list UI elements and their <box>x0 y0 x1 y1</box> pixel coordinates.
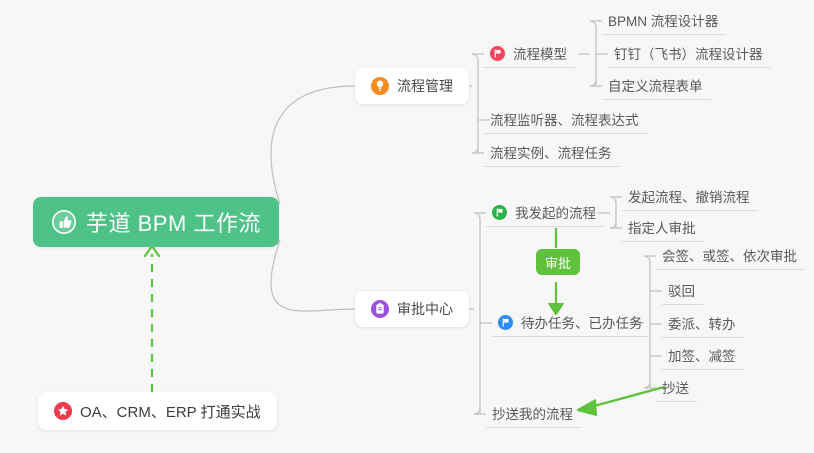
node-countersign[interactable]: 会签、或签、依次审批 <box>656 241 805 270</box>
link-pmodel-bottom-cap <box>590 80 596 86</box>
flag-green-icon <box>492 205 507 220</box>
note-node-label: OA、CRM、ERP 打通实战 <box>80 401 261 422</box>
link-ac-top-cap <box>474 213 480 219</box>
root-node[interactable]: 芋道 BPM 工作流 <box>33 197 279 247</box>
clipboard-icon <box>371 300 389 318</box>
node-countersign-label: 会签、或签、依次审批 <box>662 245 797 265</box>
link-mi-top-cap <box>610 197 616 203</box>
link-todo-top-cap <box>644 256 650 262</box>
node-dingtalk-feishu-designer[interactable]: 钉钉（飞书）流程设计器 <box>608 39 771 68</box>
link-spine-top-cap <box>472 54 478 60</box>
node-add-remove-sign-label: 加签、减签 <box>668 345 736 365</box>
node-todo-done-tasks-label: 待办任务、已办任务 <box>521 312 643 332</box>
branch-process-management[interactable]: 流程管理 <box>355 68 469 104</box>
star-icon <box>54 402 72 420</box>
link-spine-bottom-cap <box>472 147 478 153</box>
node-cc-label: 抄送 <box>662 377 689 397</box>
node-reject[interactable]: 驳回 <box>662 276 703 305</box>
thumbs-up-icon <box>51 209 77 235</box>
branch-process-management-label: 流程管理 <box>397 76 453 96</box>
node-listener-expression[interactable]: 流程监听器、流程表达式 <box>484 105 647 134</box>
link-mi-bottom-cap <box>610 222 616 228</box>
node-cc-to-me[interactable]: 抄送我的流程 <box>486 399 581 428</box>
node-listener-expression-label: 流程监听器、流程表达式 <box>490 109 639 129</box>
flag-red-icon <box>490 46 505 61</box>
annotation-arrow-note-to-root <box>145 246 159 392</box>
node-my-initiated[interactable]: 我发起的流程 <box>486 198 604 227</box>
node-custom-process-form[interactable]: 自定义流程表单 <box>602 71 711 100</box>
node-start-cancel-label: 发起流程、撤销流程 <box>628 186 750 206</box>
node-custom-process-form-label: 自定义流程表单 <box>608 75 703 95</box>
node-instance-task[interactable]: 流程实例、流程任务 <box>484 138 620 167</box>
flag-blue-icon <box>498 315 513 330</box>
branch-approval-center[interactable]: 审批中心 <box>355 291 469 327</box>
node-dingtalk-feishu-designer-label: 钉钉（飞书）流程设计器 <box>614 43 763 63</box>
node-assignee-approval-label: 指定人审批 <box>628 217 696 237</box>
link-root-to-approval-center <box>271 240 355 311</box>
annotation-approval-pill-label: 审批 <box>545 253 571 272</box>
node-add-remove-sign[interactable]: 加签、减签 <box>662 341 744 370</box>
node-bpmn-designer[interactable]: BPMN 流程设计器 <box>602 6 726 35</box>
link-todo-bottom-cap <box>644 382 650 388</box>
note-node[interactable]: OA、CRM、ERP 打通实战 <box>38 392 277 430</box>
annotation-arrow-cc-to-cc-to-me <box>578 387 664 415</box>
node-cc-to-me-label: 抄送我的流程 <box>492 403 573 423</box>
node-bpmn-designer-label: BPMN 流程设计器 <box>608 10 718 30</box>
root-node-label: 芋道 BPM 工作流 <box>86 206 261 238</box>
link-root-to-process-management <box>271 86 355 204</box>
link-pmodel-top-cap <box>590 21 596 27</box>
node-delegate-transfer[interactable]: 委派、转办 <box>662 309 744 338</box>
annotation-approval-pill: 审批 <box>536 249 580 275</box>
node-process-model-label: 流程模型 <box>513 43 567 63</box>
node-cc[interactable]: 抄送 <box>656 373 697 402</box>
link-ac-bottom-cap <box>474 408 480 414</box>
node-instance-task-label: 流程实例、流程任务 <box>490 142 612 162</box>
branch-approval-center-label: 审批中心 <box>397 299 453 319</box>
node-todo-done-tasks[interactable]: 待办任务、已办任务 <box>492 308 651 337</box>
node-my-initiated-label: 我发起的流程 <box>515 202 596 222</box>
node-delegate-transfer-label: 委派、转办 <box>668 313 736 333</box>
node-assignee-approval[interactable]: 指定人审批 <box>622 213 704 242</box>
node-start-cancel[interactable]: 发起流程、撤销流程 <box>622 182 758 211</box>
lightbulb-icon <box>371 77 389 95</box>
node-process-model[interactable]: 流程模型 <box>484 39 575 68</box>
mindmap-canvas: 芋道 BPM 工作流 OA、CRM、ERP 打通实战 流程管理 <box>0 0 814 453</box>
node-reject-label: 驳回 <box>668 280 695 300</box>
